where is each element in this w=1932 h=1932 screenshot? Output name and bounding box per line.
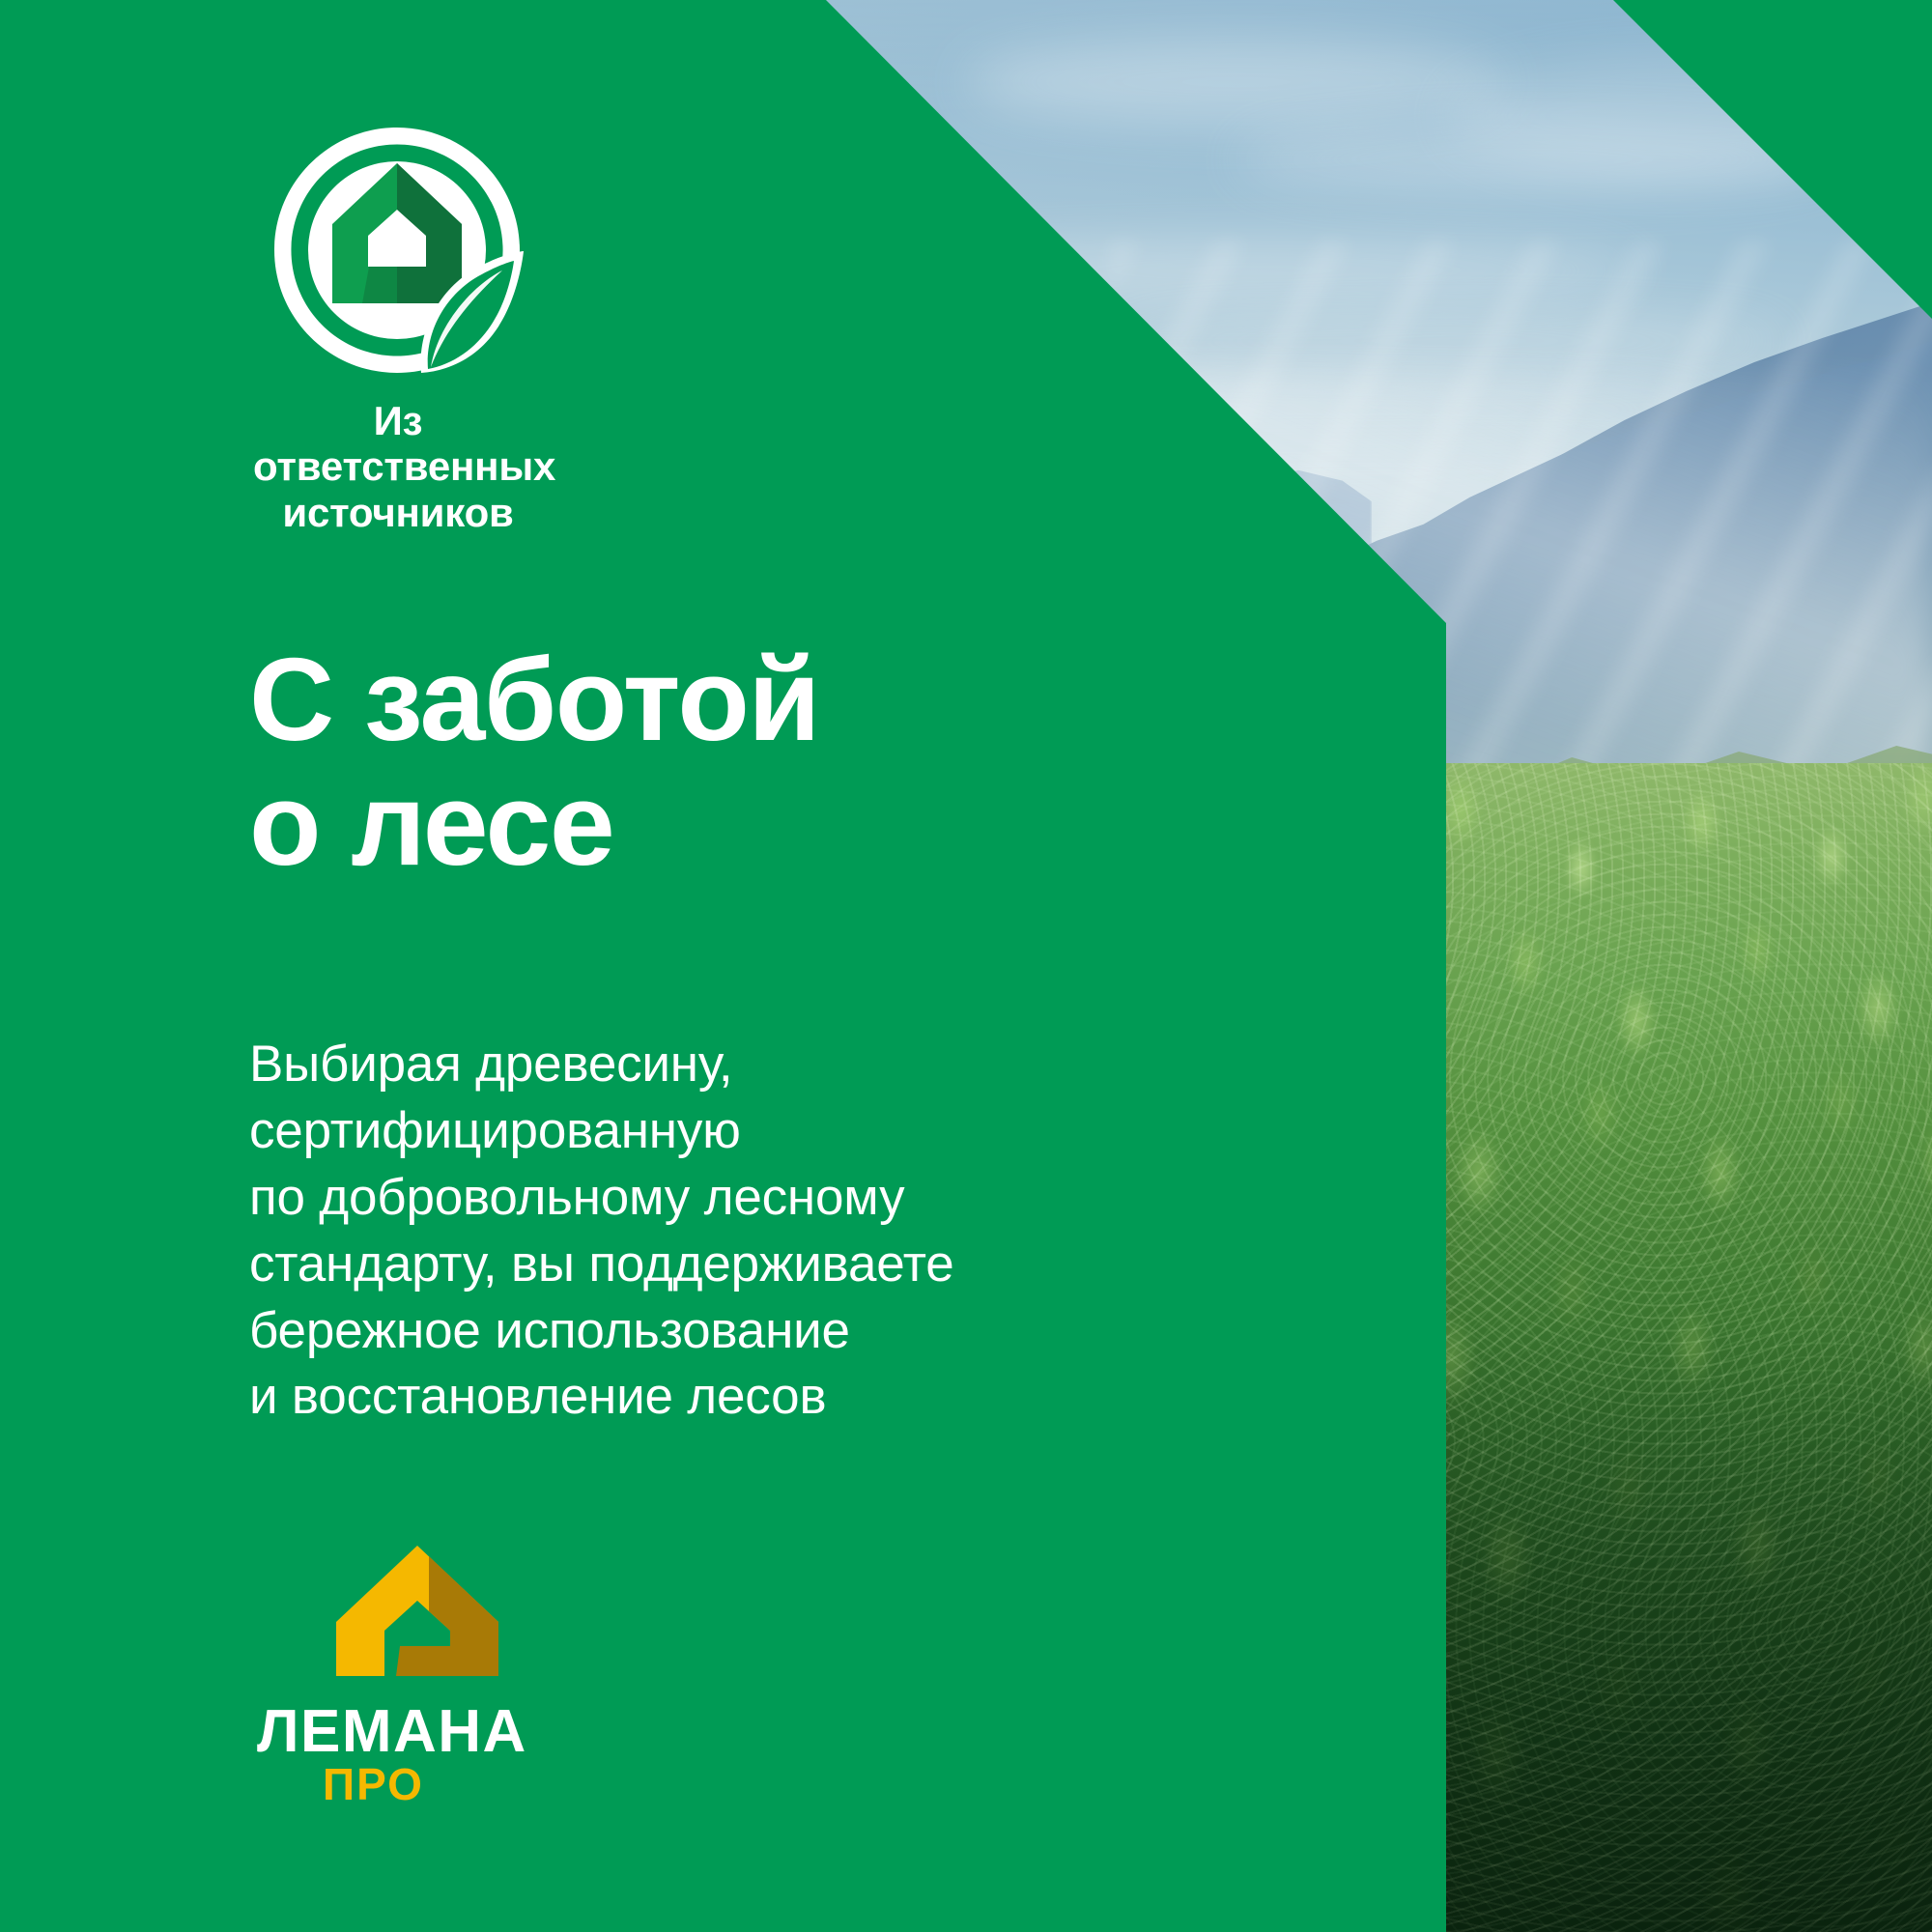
content-column: Из ответственных источников С заботой о … [0,0,1446,1932]
responsible-sources-badge: Из ответственных источников [253,124,543,535]
lemana-pro-logo: ЛЕМАНА ПРО [253,1546,601,1804]
brand-name-text: ЛЕМАНА [257,1698,527,1765]
responsible-sources-caption: Из ответственных источников [253,398,543,535]
poster-root: Из ответственных источников С заботой о … [0,0,1932,1932]
lemana-pro-house-logo-icon [336,1546,498,1676]
brand-sub-text: ПРО [323,1759,424,1804]
body-paragraph: Выбирая древесину, сертифицированную по … [249,1032,954,1431]
lemana-pro-wordmark: ЛЕМАНА ПРО [257,1697,576,1804]
responsible-sources-eco-mark-icon [270,124,524,377]
page-headline: С заботой о лесе [249,638,819,888]
